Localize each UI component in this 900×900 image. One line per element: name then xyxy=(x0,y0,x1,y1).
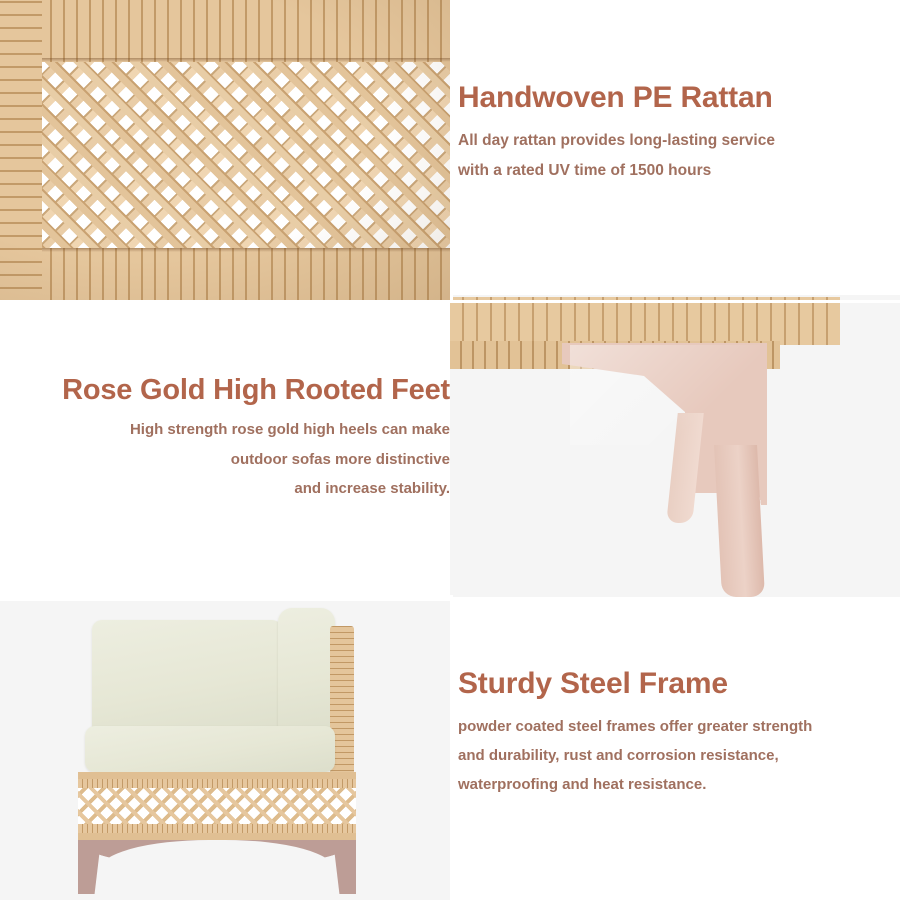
rattan-bottom-slat-shadow xyxy=(0,248,450,252)
sofa-base-top-rail xyxy=(78,779,356,788)
sofa-leg-right xyxy=(333,840,356,894)
sofa-back-cushion-right xyxy=(278,608,335,738)
sofa-back-cushion-left xyxy=(92,620,282,742)
rattan-top-slat-band xyxy=(0,0,450,62)
rose-gold-foot-photo xyxy=(450,295,900,597)
feature-line-2: with a rated UV time of 1500 hours xyxy=(458,156,898,186)
rattan-slat-rail-upper xyxy=(450,297,840,345)
feature-title-handwoven-pe-rattan: Handwoven PE Rattan xyxy=(458,82,898,114)
feature-text-rose-gold-high-rooted-feet: Rose Gold High Rooted Feet High strength… xyxy=(10,375,450,503)
seam-horizontal-upper xyxy=(0,300,900,303)
feature-text-handwoven-pe-rattan: Handwoven PE Rattan All day rattan provi… xyxy=(458,82,898,186)
corner-sofa-photo xyxy=(0,600,450,900)
feature-title-sturdy-steel-frame: Sturdy Steel Frame xyxy=(458,668,900,700)
corner-sofa-module xyxy=(0,600,450,900)
product-feature-infographic: Handwoven PE Rattan All day rattan provi… xyxy=(0,0,900,900)
rattan-left-slat-band xyxy=(0,0,42,300)
seam-horizontal-lower xyxy=(0,597,450,601)
feature-line-1: High strength rose gold high heels can m… xyxy=(10,415,450,444)
feature-line-2: outdoor sofas more distinctive xyxy=(10,445,450,474)
rose-gold-leg xyxy=(714,445,765,597)
feature-line-3: and increase stability. xyxy=(10,474,450,503)
sofa-base-bottom-rail xyxy=(78,824,356,833)
rattan-top-slat-shadow xyxy=(0,58,450,62)
rattan-bottom-slat-band xyxy=(0,248,450,300)
sofa-seat-cushion xyxy=(85,726,335,772)
feature-line-1: powder coated steel frames offer greater… xyxy=(458,712,900,741)
sofa-rattan-lattice-base xyxy=(78,772,356,840)
feature-line-2: and durability, rust and corrosion resis… xyxy=(458,741,900,770)
feature-line-3: waterproofing and heat resistance. xyxy=(458,770,900,799)
feature-text-sturdy-steel-frame: Sturdy Steel Frame powder coated steel f… xyxy=(458,668,900,799)
feature-line-1: All day rattan provides long-lasting ser… xyxy=(458,126,898,156)
seam-vertical-top xyxy=(450,0,453,300)
feature-title-rose-gold-high-rooted-feet: Rose Gold High Rooted Feet xyxy=(10,375,450,405)
sofa-leg-left xyxy=(78,840,101,894)
rattan-weave-photo xyxy=(0,0,450,300)
